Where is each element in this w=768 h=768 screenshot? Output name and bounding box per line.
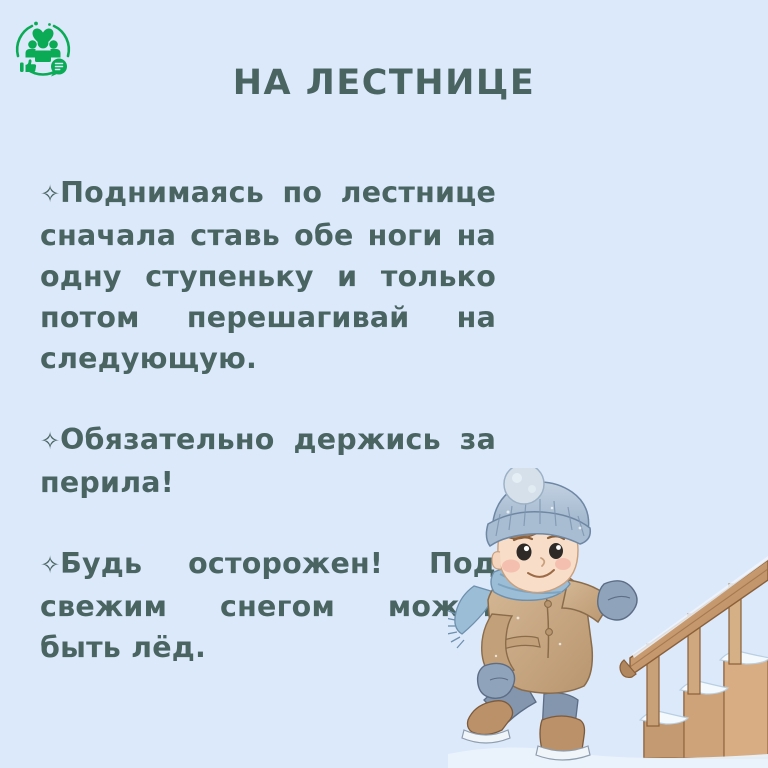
eye [517,544,532,561]
tip-text: Обязательно держись за перила! [40,423,496,499]
people-group-icon [26,38,61,62]
hat-pompom [504,468,544,504]
tip-item-3: ✧Будь осторожен! Под свежим снегом может… [40,543,496,668]
page-title: НА ЛЕСТНИЦЕ [0,64,768,103]
coat-button [546,629,553,636]
knit-hat [486,468,590,546]
ear [492,552,501,569]
coat-button [545,601,552,608]
tip-item-1: ✧Поднимаясь по лестнице сначала ставь об… [40,172,496,379]
tips-list: ✧Поднимаясь по лестнице сначала ставь об… [40,172,496,668]
boy-climbing-snowy-stairs-illustration [448,468,768,768]
left-mitten [478,663,515,698]
tip-text: Поднимаясь по лестнице сначала ставь обе… [40,176,496,375]
cheek [555,558,571,570]
eye [549,543,563,559]
tip-bullet-icon: ✧ [40,427,60,455]
back-boot [468,701,513,735]
tip-bullet-icon: ✧ [40,551,60,579]
cheek [502,560,520,573]
tip-item-2: ✧Обязательно держись за перила! [40,419,496,503]
tip-text: Будь осторожен! Под свежим снегом может … [40,547,496,664]
poster-canvas: НА ЛЕСТНИЦЕ ✧Поднимаясь по лестнице снач… [0,0,768,768]
tip-bullet-icon: ✧ [40,180,60,208]
right-mitten [598,581,637,620]
boy-figure [448,468,637,760]
